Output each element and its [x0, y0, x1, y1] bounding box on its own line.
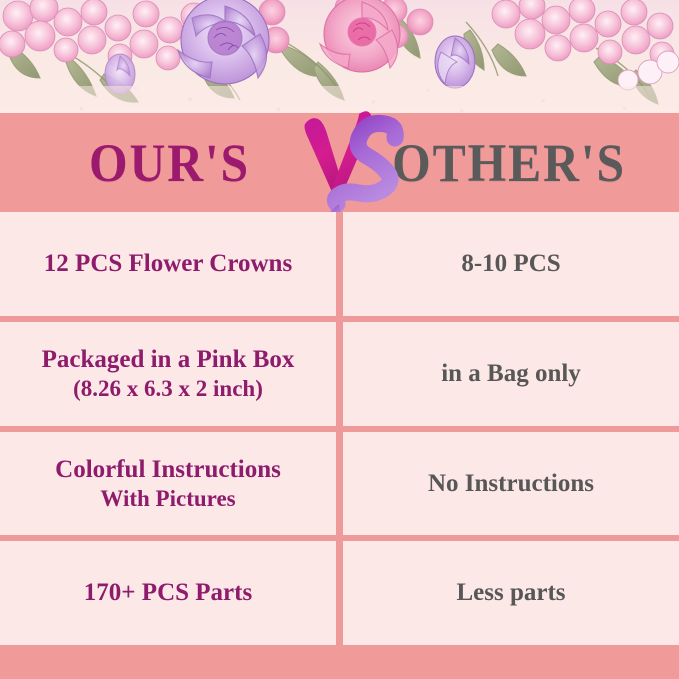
others-value: No Instructions	[428, 469, 594, 499]
header-ours-label: OUR'S	[89, 136, 250, 190]
ours-value-wrap: Packaged in a Pink Box (8.26 x 6.3 x 2 i…	[42, 345, 295, 402]
header-row: OUR'S OTHER'S	[0, 113, 679, 212]
ours-cell: Packaged in a Pink Box (8.26 x 6.3 x 2 i…	[0, 322, 336, 426]
ours-value: Packaged in a Pink Box	[42, 346, 295, 373]
comparison-infographic: OUR'S OTHER'S	[0, 0, 679, 679]
floral-banner-image	[0, 0, 679, 113]
ours-cell: 170+ PCS Parts	[0, 541, 336, 645]
table-row: Packaged in a Pink Box (8.26 x 6.3 x 2 i…	[0, 322, 679, 426]
others-value: in a Bag only	[441, 359, 581, 389]
others-cell: Less parts	[343, 541, 679, 645]
table-row: 12 PCS Flower Crowns 8-10 PCS	[0, 212, 679, 316]
ours-cell: 12 PCS Flower Crowns	[0, 212, 336, 316]
ours-value: 12 PCS Flower Crowns	[44, 249, 292, 279]
ours-value: Colorful Instructions	[55, 456, 281, 483]
ours-cell: Colorful Instructions With Pictures	[0, 432, 336, 536]
header-others-label: OTHER'S	[392, 136, 626, 190]
others-value: Less parts	[456, 578, 565, 608]
header-ours-cell: OUR'S	[0, 113, 340, 212]
header-others-cell: OTHER'S	[340, 113, 679, 212]
ours-value: 170+ PCS Parts	[84, 578, 252, 608]
others-cell: No Instructions	[343, 432, 679, 536]
others-cell: in a Bag only	[343, 322, 679, 426]
ours-value-sub: With Pictures	[55, 485, 281, 512]
table-row: 170+ PCS Parts Less parts	[0, 541, 679, 645]
bottom-band	[0, 645, 679, 679]
ours-value-sub: (8.26 x 6.3 x 2 inch)	[42, 375, 295, 402]
others-value: 8-10 PCS	[461, 249, 560, 279]
others-cell: 8-10 PCS	[343, 212, 679, 316]
comparison-grid: 12 PCS Flower Crowns 8-10 PCS Packaged i…	[0, 212, 679, 645]
table-row: Colorful Instructions With Pictures No I…	[0, 432, 679, 536]
ours-value-wrap: Colorful Instructions With Pictures	[55, 455, 281, 512]
